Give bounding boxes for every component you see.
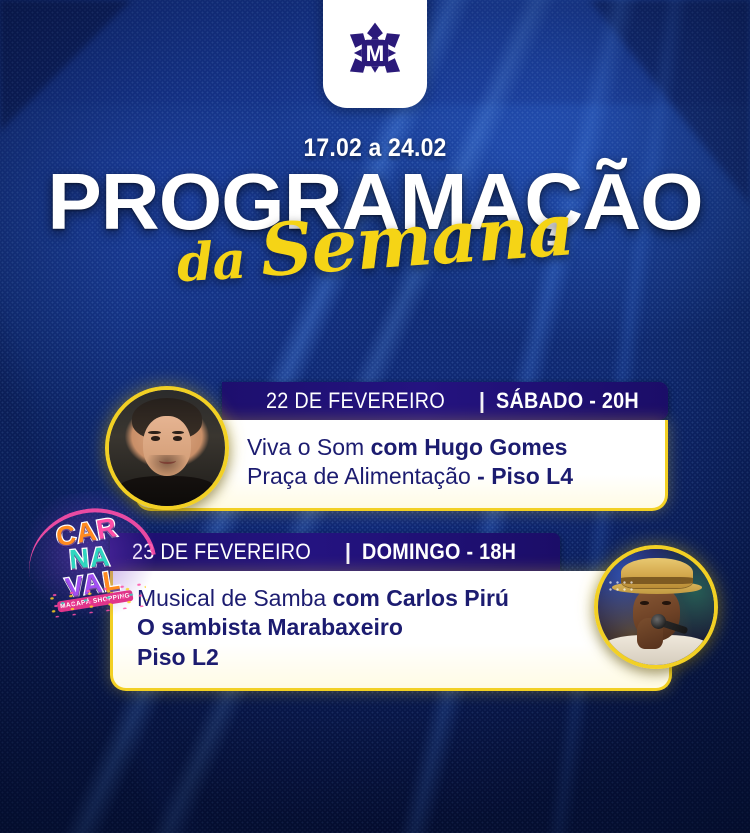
event-line-2: O sambista Marabaxeiro [137,613,519,642]
event-line-1-bold: com Hugo Gomes [371,434,568,460]
event-header-bar: 23 DE FEVEREIRO | DOMINGO - 18H [110,533,560,571]
event-card[interactable]: CAR NA VAL MACAPÁ SHOPPING [0,533,750,691]
event-separator: | [479,388,485,414]
event-date: 22 DE FEVEREIRO [266,388,445,414]
script-word-semana: Semana [258,193,576,287]
logo-letter: M [366,41,385,66]
event-details: Musical de Samba com Carlos Pirú O sambi… [110,571,672,691]
event-line-2-bold: - Piso L4 [477,463,573,489]
carnaval-r: R [94,512,119,545]
event-separator: | [345,539,351,565]
event-line-1: Musical de Samba com Carlos Pirú [137,584,519,613]
event-weekday-time: SÁBADO - 20H [496,388,639,414]
headline-block: 17.02 a 24.02 PROGRAMAÇÃO daSemana [0,134,750,277]
event-line-1-light: Musical de Samba [137,585,333,611]
event-line-1-bold: com Carlos Pirú [333,585,509,611]
promo-poster: M 17.02 a 24.02 PROGRAMAÇÃO daSemana [0,0,750,833]
event-line-3: Piso L2 [137,643,519,672]
script-subtitle-wrap: daSemana [0,213,750,277]
brand-logo-badge: M [323,0,427,108]
event-weekday-time: DOMINGO - 18H [362,539,516,565]
event-line-1-light: Viva o Som [247,434,371,460]
script-word-da: da [176,234,247,289]
crown-m-logo-icon: M [342,20,408,86]
event-line-2-light: Praça de Alimentação [247,463,477,489]
event-date: 23 DE FEVEREIRO [132,539,311,565]
carnaval-badge-icon: CAR NA VAL MACAPÁ SHOPPING [25,494,154,623]
event-list: 22 DE FEVEREIRO | SÁBADO - 20H Viva o So… [0,382,750,713]
portrait-carlos-piru [594,545,718,669]
event-line-1: Viva o Som com Hugo Gomes [247,433,641,462]
event-header-bar: 22 DE FEVEREIRO | SÁBADO - 20H [222,382,668,420]
event-line-2: Praça de Alimentação - Piso L4 [247,462,641,491]
